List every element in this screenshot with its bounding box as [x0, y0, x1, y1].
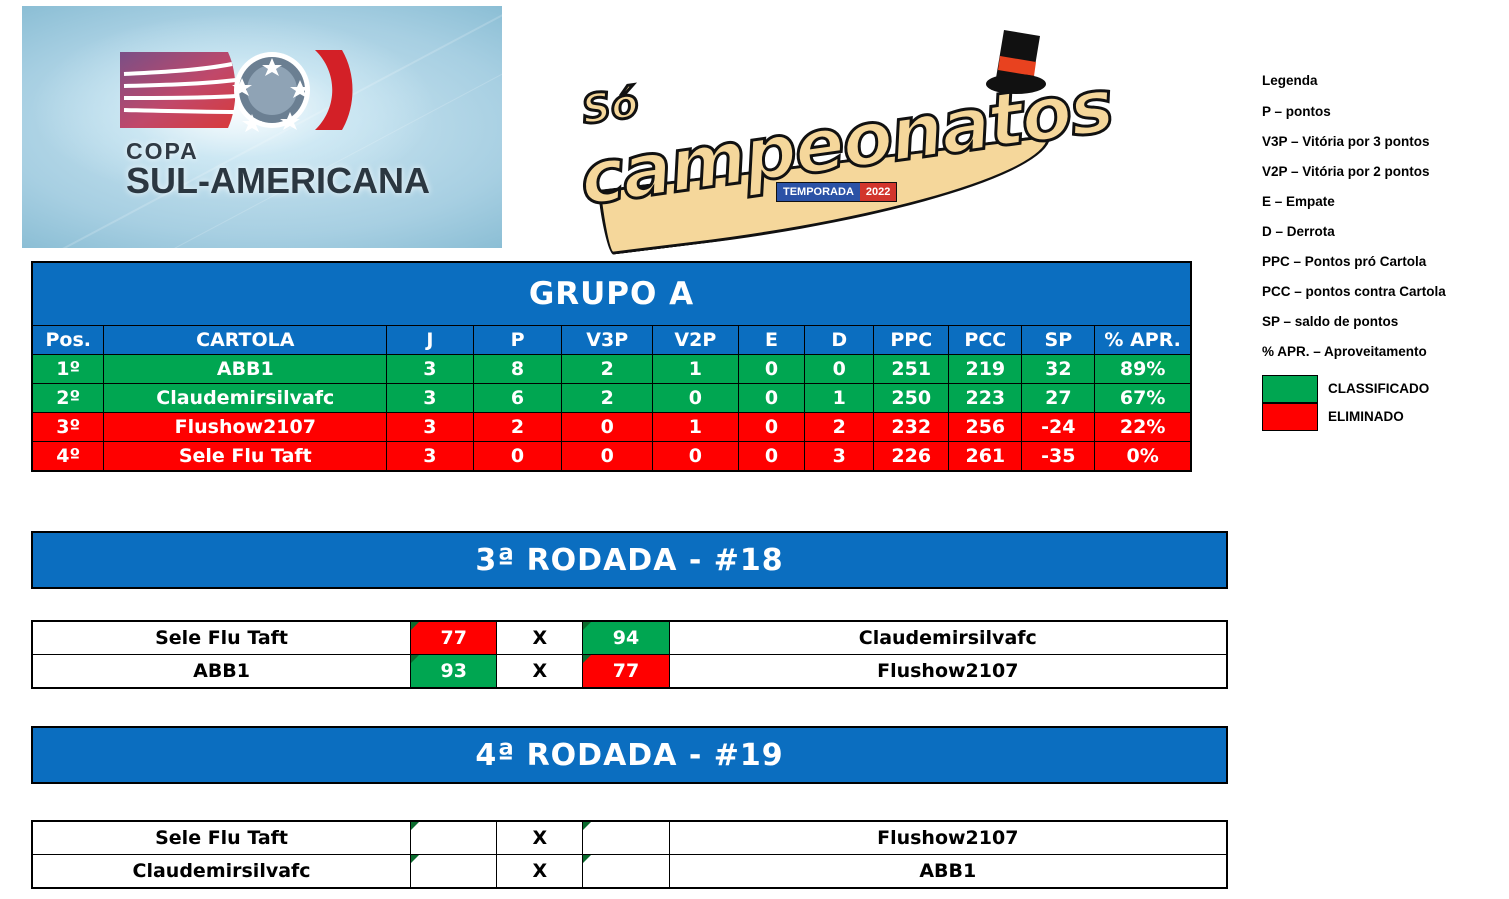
cell-pos: 4º [32, 442, 104, 472]
cell-v3p: 0 [562, 413, 653, 442]
so-campeonatos-logo: Só campeonatos TEMPORADA 2022 [570, 12, 1090, 228]
table-row: Sele Flu Taft 77 X 94 Claudemirsilvafc [32, 621, 1227, 655]
col-header-j: J [387, 326, 474, 355]
cell-sp: 32 [1022, 355, 1095, 384]
cell-v3p: 2 [562, 384, 653, 413]
legend-item-sp: SP – saldo de pontos [1262, 315, 1502, 329]
round-3-matches-table: Sele Flu Taft 77 X 94 Claudemirsilvafc A… [31, 620, 1228, 689]
legend-item-e: E – Empate [1262, 195, 1502, 209]
cell-v3p: 0 [562, 442, 653, 472]
cell-cartola: Flushow2107 [104, 413, 387, 442]
col-header-d: D [805, 326, 874, 355]
cell-pos: 1º [32, 355, 104, 384]
legend-item-pcc: PCC – pontos contra Cartola [1262, 285, 1502, 299]
cell-e: 0 [738, 355, 805, 384]
cell-j: 3 [387, 413, 474, 442]
cell-e: 0 [738, 384, 805, 413]
cell-p: 6 [473, 384, 562, 413]
cell-v2p: 1 [653, 413, 739, 442]
round-3-title: 3ª RODADA - #18 [475, 543, 783, 578]
red-swatch [1262, 403, 1318, 431]
logo-season-badge: TEMPORADA 2022 [776, 182, 897, 202]
round-4-title-bar: 4ª RODADA - #19 [31, 726, 1228, 784]
legend-item-p: P – pontos [1262, 105, 1502, 119]
cell-j: 3 [387, 442, 474, 472]
group-title: GRUPO A [32, 262, 1191, 326]
match-home-team: Sele Flu Taft [32, 621, 411, 655]
match-away-score[interactable] [583, 821, 669, 855]
match-home-score[interactable]: 93 [411, 655, 497, 689]
cell-ppc: 251 [874, 355, 949, 384]
col-header-e: E [738, 326, 805, 355]
cell-pcc: 261 [949, 442, 1022, 472]
cell-pos: 2º [32, 384, 104, 413]
match-separator: X [497, 655, 583, 689]
legend-item-ppc: PPC – Pontos pró Cartola [1262, 255, 1502, 269]
col-header-ppc: PPC [874, 326, 949, 355]
cell-p: 0 [473, 442, 562, 472]
match-separator: X [497, 621, 583, 655]
match-home-score[interactable] [411, 821, 497, 855]
legend-panel: Legenda P – pontos V3P – Vitória por 3 p… [1262, 74, 1502, 431]
cell-pos: 3º [32, 413, 104, 442]
cell-cartola: Claudemirsilvafc [104, 384, 387, 413]
logo-line-2: SUL-AMERICANA [126, 160, 430, 202]
col-header-p: P [473, 326, 562, 355]
legend-title: Legenda [1262, 74, 1502, 88]
match-away-team: Flushow2107 [669, 655, 1227, 689]
cell-p: 2 [473, 413, 562, 442]
cell-ppc: 232 [874, 413, 949, 442]
col-header-sp: SP [1022, 326, 1095, 355]
table-row: Claudemirsilvafc X ABB1 [32, 855, 1227, 889]
cell-apr: 22% [1095, 413, 1191, 442]
match-separator: X [497, 821, 583, 855]
match-home-team: ABB1 [32, 655, 411, 689]
cell-v2p: 0 [653, 442, 739, 472]
swatch-label-classificado: CLASSIFICADO [1328, 381, 1429, 396]
legend-item-v3p: V3P – Vitória por 3 pontos [1262, 135, 1502, 149]
table-row: Sele Flu Taft X Flushow2107 [32, 821, 1227, 855]
cell-cartola: Sele Flu Taft [104, 442, 387, 472]
round-4-matches-table: Sele Flu Taft X Flushow2107 Claudemirsil… [31, 820, 1228, 889]
cell-pcc: 219 [949, 355, 1022, 384]
cell-pcc: 223 [949, 384, 1022, 413]
table-row: ABB1 93 X 77 Flushow2107 [32, 655, 1227, 689]
sul-americana-emblem-icon [110, 44, 360, 136]
col-header-apr: % APR. [1095, 326, 1191, 355]
cell-apr: 89% [1095, 355, 1191, 384]
round-3-title-bar: 3ª RODADA - #18 [31, 531, 1228, 589]
cell-e: 0 [738, 442, 805, 472]
standings-table: GRUPO A Pos. CARTOLA J P V3P V2P E D PPC… [31, 261, 1192, 472]
legend-item-apr: % APR. – Aproveitamento [1262, 345, 1502, 359]
table-row: 1º ABB1 3 8 2 1 0 0 251 219 32 89% [32, 355, 1191, 384]
cell-d: 2 [805, 413, 874, 442]
match-away-score[interactable]: 77 [583, 655, 669, 689]
match-away-score[interactable]: 94 [583, 621, 669, 655]
cell-e: 0 [738, 413, 805, 442]
swatch-label-eliminado: ELIMINADO [1328, 409, 1404, 424]
top-hat-icon [982, 26, 1052, 112]
logo-so-text: Só [579, 80, 641, 133]
col-header-pcc: PCC [949, 326, 1022, 355]
match-home-team: Sele Flu Taft [32, 821, 411, 855]
cell-ppc: 226 [874, 442, 949, 472]
badge-temporada-label: TEMPORADA [777, 183, 860, 201]
match-away-team: ABB1 [669, 855, 1227, 889]
badge-year-label: 2022 [860, 183, 896, 201]
legend-swatch-classificado: CLASSIFICADO [1262, 375, 1502, 403]
cell-ppc: 250 [874, 384, 949, 413]
round-4-title: 4ª RODADA - #19 [475, 738, 783, 773]
col-header-v2p: V2P [653, 326, 739, 355]
cell-sp: -35 [1022, 442, 1095, 472]
match-away-team: Claudemirsilvafc [669, 621, 1227, 655]
cell-p: 8 [473, 355, 562, 384]
table-row: 3º Flushow2107 3 2 0 1 0 2 232 256 -24 2… [32, 413, 1191, 442]
legend-swatch-eliminado: ELIMINADO [1262, 403, 1502, 431]
standings-header-row: Pos. CARTOLA J P V3P V2P E D PPC PCC SP … [32, 326, 1191, 355]
legend-item-d: D – Derrota [1262, 225, 1502, 239]
cell-apr: 67% [1095, 384, 1191, 413]
legend-item-v2p: V2P – Vitória por 2 pontos [1262, 165, 1502, 179]
match-home-score[interactable] [411, 855, 497, 889]
match-away-score[interactable] [583, 855, 669, 889]
match-home-team: Claudemirsilvafc [32, 855, 411, 889]
copa-sul-americana-logo: COPA SUL-AMERICANA [22, 6, 502, 248]
cell-d: 1 [805, 384, 874, 413]
cell-v3p: 2 [562, 355, 653, 384]
cell-apr: 0% [1095, 442, 1191, 472]
match-away-team: Flushow2107 [669, 821, 1227, 855]
match-separator: X [497, 855, 583, 889]
match-home-score[interactable]: 77 [411, 621, 497, 655]
col-header-pos: Pos. [32, 326, 104, 355]
table-row: 2º Claudemirsilvafc 3 6 2 0 0 1 250 223 … [32, 384, 1191, 413]
cell-j: 3 [387, 355, 474, 384]
cell-sp: 27 [1022, 384, 1095, 413]
table-row: 4º Sele Flu Taft 3 0 0 0 0 3 226 261 -35… [32, 442, 1191, 472]
col-header-cartola: CARTOLA [104, 326, 387, 355]
cell-pcc: 256 [949, 413, 1022, 442]
cell-j: 3 [387, 384, 474, 413]
cell-d: 0 [805, 355, 874, 384]
cell-sp: -24 [1022, 413, 1095, 442]
green-swatch [1262, 375, 1318, 403]
cell-cartola: ABB1 [104, 355, 387, 384]
cell-d: 3 [805, 442, 874, 472]
col-header-v3p: V3P [562, 326, 653, 355]
cell-v2p: 0 [653, 384, 739, 413]
cell-v2p: 1 [653, 355, 739, 384]
